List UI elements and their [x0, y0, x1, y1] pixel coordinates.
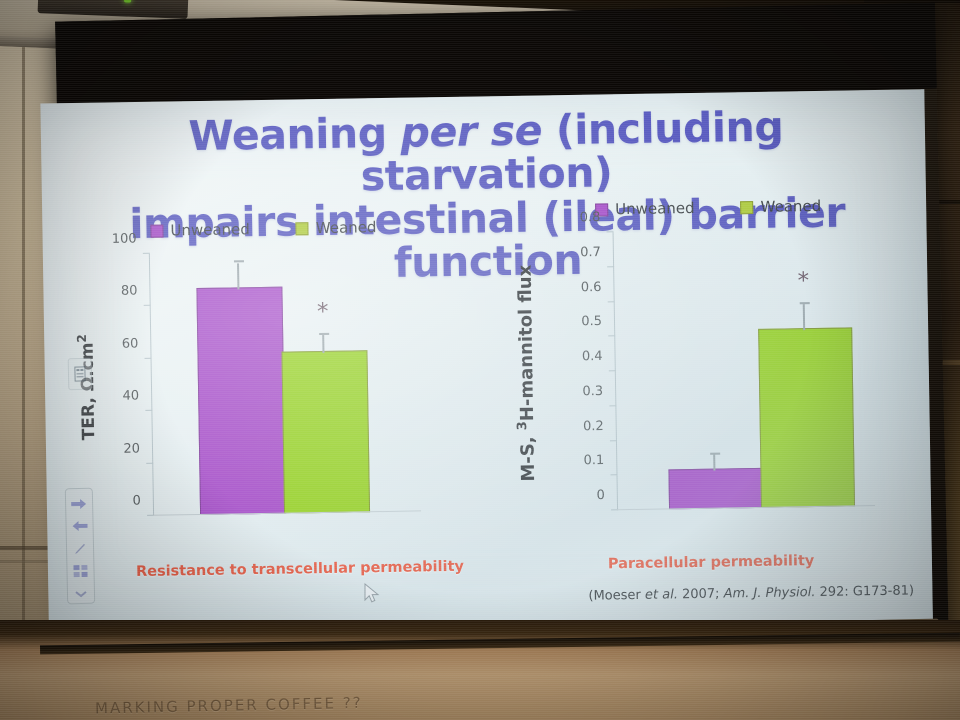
bar-unweaned-ter[interactable] [196, 286, 286, 515]
legend-swatch-green-icon [740, 200, 753, 213]
legend-label-unweaned: Unweaned [170, 220, 250, 239]
bar-weaned-mannitol[interactable] [758, 327, 855, 508]
legend-label-unweaned: Unweaned [615, 199, 695, 218]
title-line-1: Weaning per se (including starvation) [188, 102, 784, 200]
legend-item-weaned: Weaned [740, 197, 821, 216]
error-bar-unweaned-mannitol [713, 455, 715, 471]
arrow-left-icon [71, 520, 87, 532]
plot-area-ter: 0 20 40 60 80 100 * [71, 249, 461, 517]
error-bar-weaned-ter [322, 335, 324, 353]
next-slide-button[interactable] [69, 495, 89, 513]
citation-reference: (Moeser et al. 2007; Am. J. Physiol. 292… [588, 583, 914, 603]
panel-glyph-icon [74, 366, 86, 382]
slide-menu-button[interactable] [70, 563, 90, 581]
caption-paracellular: Paracellular permeability [608, 553, 815, 572]
y-tick-label: 100 [88, 232, 136, 248]
error-bar-weaned-mannitol [803, 304, 805, 330]
cursor-arrow-icon [364, 583, 380, 605]
more-options-button[interactable] [71, 585, 91, 603]
wall-seam [22, 0, 25, 720]
error-bar-unweaned-ter [237, 263, 239, 289]
bar-weaned-ter[interactable] [281, 350, 370, 513]
chart-ter: Unweaned Weaned TER, Ω.cm2 [70, 215, 461, 557]
significance-star-mannitol: * [797, 270, 809, 293]
error-bar-cap [800, 302, 810, 304]
bars-mannitol: * [513, 228, 909, 512]
projector-screen: Weaning per se (including starvation) im… [55, 2, 949, 661]
legend-swatch-green-icon [296, 222, 309, 235]
significance-star-ter: * [317, 301, 329, 324]
lecture-room-photo: Weaning per se (including starvation) im… [0, 0, 960, 720]
status-led-icon [124, 0, 131, 3]
error-bar-cap [319, 333, 329, 335]
pen-tools-button[interactable] [70, 540, 90, 558]
presentation-slide[interactable]: Weaning per se (including starvation) im… [40, 89, 932, 633]
chevron-down-icon [75, 590, 87, 598]
grid-menu-icon [73, 565, 87, 578]
legend-label-weaned: Weaned [760, 197, 821, 216]
legend-swatch-purple-icon [150, 224, 163, 237]
previous-slide-button[interactable] [69, 517, 89, 535]
bar-unweaned-mannitol[interactable] [668, 468, 763, 510]
presenter-panel-icon[interactable] [68, 358, 93, 390]
legend-label-weaned: Weaned [316, 218, 377, 237]
plot-area-mannitol: 0 0.1 0.2 0.3 0.4 0.5 0.6 0.7 0.8 [513, 228, 909, 512]
y-tick-label: 0.8 [548, 210, 600, 226]
error-bar-cap [710, 453, 720, 455]
legend-item-unweaned: Unweaned [150, 220, 250, 240]
arrow-right-icon [71, 498, 87, 510]
bars-ter: * [71, 249, 461, 517]
legend-item-unweaned: Unweaned [595, 199, 695, 219]
error-bar-cap [234, 261, 244, 263]
legend-item-weaned: Weaned [296, 218, 377, 237]
caption-transcellular: Resistance to transcellular permeability [136, 559, 464, 580]
pen-icon [73, 542, 86, 555]
chart-mannitol-flux: Unweaned Weaned M-S, 3H-mannitol flux [512, 194, 910, 552]
powerpoint-presentation-toolbar[interactable] [65, 488, 95, 605]
